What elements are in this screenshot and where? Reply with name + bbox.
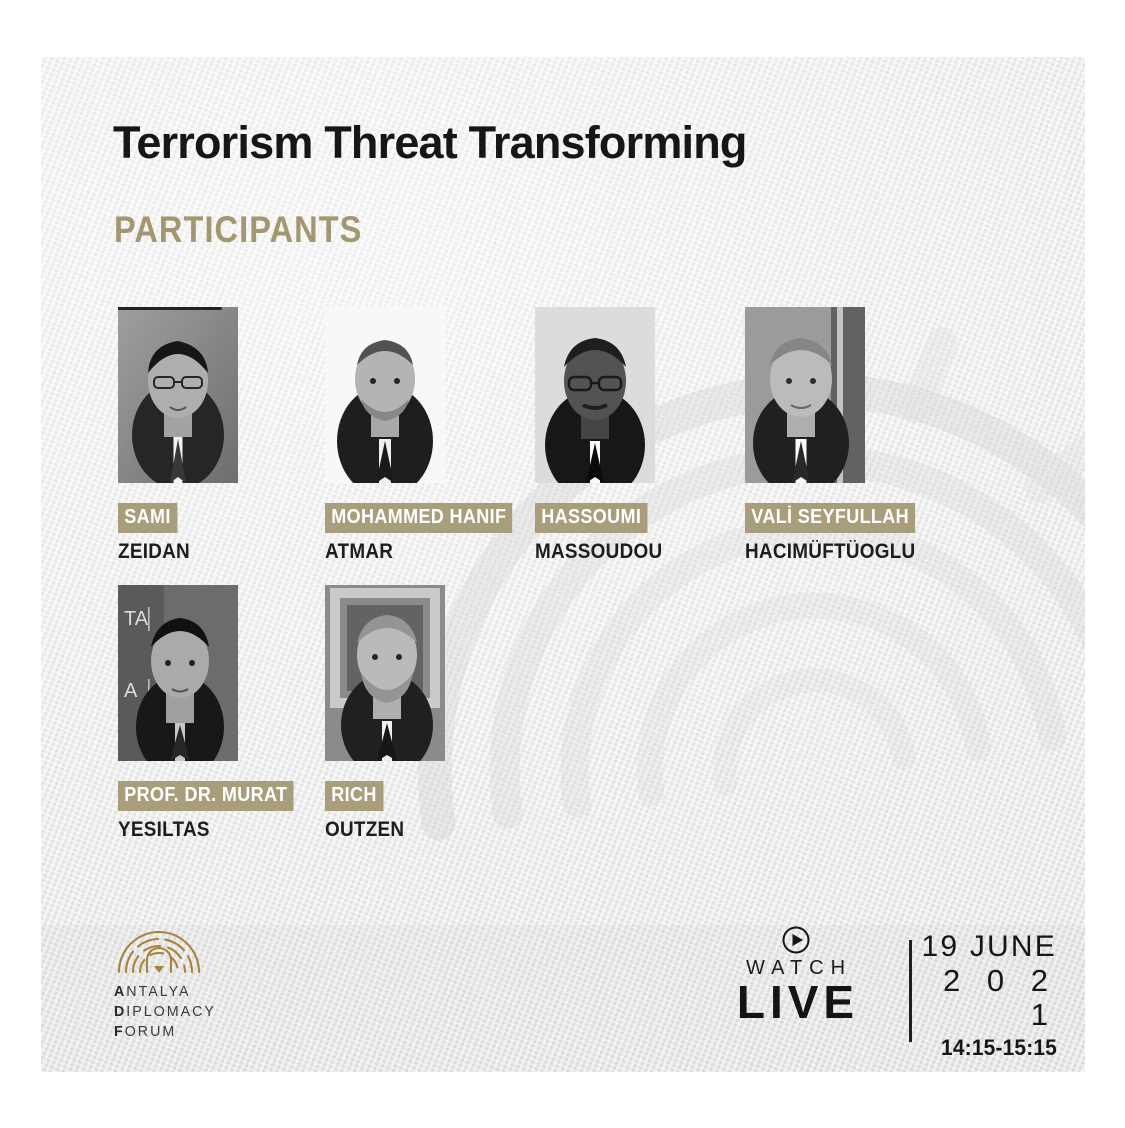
participant-card[interactable]: MOHAMMED HANIF ATMAR — [325, 307, 535, 564]
svg-text:TA: TA — [124, 608, 149, 630]
background-watermark-logo — [283, 94, 1085, 1072]
participant-photo — [535, 307, 655, 483]
participant-photo: MODERATOR — [118, 307, 238, 483]
adf-logo-wordmark: ANTALYA DIPLOMACY FORUM — [114, 982, 311, 1041]
poster-card: Terrorism Threat Transforming PARTICIPAN… — [41, 57, 1085, 1072]
participant-last-name: YESILTAS — [118, 818, 307, 842]
watch-live-block[interactable]: WATCH LIVE — [713, 925, 878, 1026]
participant-photo — [745, 307, 865, 483]
participant-first-name: SAMI — [118, 503, 177, 533]
participant-first-name: PROF. DR. MURAT — [118, 781, 294, 811]
participant-last-name: ZEIDAN — [118, 540, 307, 564]
participant-first-name: RICH — [325, 781, 383, 811]
participant-card[interactable]: HASSOUMI MASSOUDOU — [535, 307, 745, 564]
logo-line-antalya: ANTALYA — [114, 982, 311, 1002]
play-circle-icon[interactable] — [781, 925, 811, 955]
participant-first-name: VALİ SEYFULLAH — [745, 503, 915, 533]
adf-arch-logo-icon — [116, 922, 202, 974]
page-title: Terrorism Threat Transforming — [113, 119, 747, 166]
live-label: LIVE — [713, 978, 878, 1026]
svg-text:A: A — [124, 680, 138, 702]
participant-card[interactable]: MODERATOR SAMI ZEIDAN — [118, 307, 328, 564]
participant-photo — [325, 307, 445, 483]
moderator-badge: MODERATOR — [118, 307, 222, 310]
participant-card[interactable]: VALİ SEYFULLAH HACIMÜFTÜOGLU — [745, 307, 955, 564]
participant-card[interactable]: TA A PROF. DR. MURAT YESILTAS — [118, 585, 328, 842]
participant-photo — [325, 585, 445, 761]
participant-photo: TA A — [118, 585, 238, 761]
adf-logo-block: ANTALYA DIPLOMACY FORUM — [111, 922, 321, 1041]
event-date-day: 19 JUNE — [897, 930, 1057, 964]
participant-first-name: HASSOUMI — [535, 503, 647, 533]
participant-last-name: OUTZEN — [325, 818, 514, 842]
participant-last-name: HACIMÜFTÜOGLU — [745, 540, 934, 564]
event-date-block: 19 JUNE 2 0 2 1 14:15-15:15 — [897, 930, 1057, 1062]
participant-first-name: MOHAMMED HANIF — [325, 503, 513, 533]
event-date-year: 2 0 2 1 — [897, 964, 1057, 1033]
participant-last-name: MASSOUDOU — [535, 540, 724, 564]
logo-line-diplomacy: DIPLOMACY — [114, 1002, 311, 1022]
section-heading-participants: PARTICIPANTS — [114, 209, 362, 251]
participant-last-name: ATMAR — [325, 540, 514, 564]
event-time-range: 14:15-15:15 — [905, 1034, 1057, 1062]
logo-line-forum: FORUM — [114, 1022, 311, 1042]
participant-card[interactable]: RICH OUTZEN — [325, 585, 535, 842]
